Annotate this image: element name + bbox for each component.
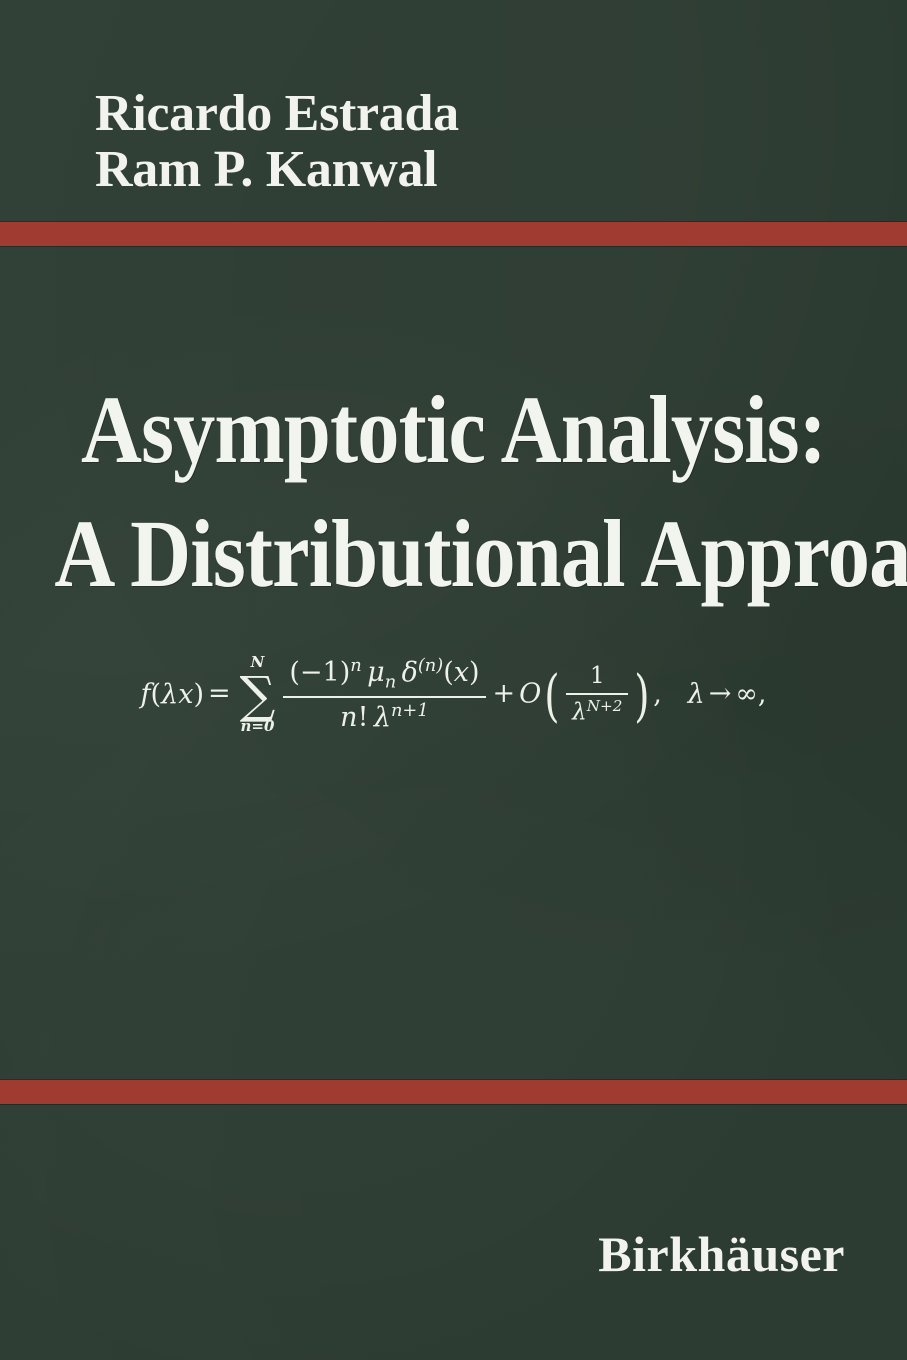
sigma-icon: ∑ [240,671,276,719]
publisher-logo: Birkhäuser [598,1228,845,1280]
limit-infinity: ∞ [735,678,758,709]
order-denominator: λN+2 [566,697,628,727]
book-title-line-2: A Distributional Approach [54,498,852,610]
author-block: Ricardo Estrada Ram P. Kanwal [95,86,795,198]
den-factorial: ! [358,702,369,733]
fraction-denominator: n! λn+1 [283,700,485,735]
num-sign-close: ) [340,657,351,688]
num-exponent: n [350,655,361,676]
limit-arrow-icon: → [705,678,736,709]
num-mu-subscript: n [385,671,396,692]
formula-equals: = [204,678,235,709]
top-red-rule [0,222,907,246]
cover-formula: f(λx) =N∑n=0(−1)n μn δ(n)(x)n! λn+1+O(1λ… [0,655,907,735]
fraction-numerator: (−1)n μn δ(n)(x) [283,655,485,694]
num-sign-open: ( [289,657,300,688]
bottom-red-rule [0,1080,907,1104]
book-cover: Ricardo Estrada Ram P. Kanwal Asymptotic… [0,0,907,1360]
limit-trailing-comma: , [758,678,767,709]
main-fraction: (−1)n μn δ(n)(x)n! λn+1 [283,655,485,734]
sum-lower-limit: n=0 [240,719,276,735]
formula-comma: , [653,678,662,709]
formula-f: f [141,679,151,710]
big-o: O [519,678,541,709]
formula-lhs-open: ( [151,679,162,710]
limit-lambda: λ [688,678,705,709]
formula-lhs-close: ) [193,679,204,710]
num-delta-superscript: (n) [418,655,443,676]
den-lambda: λ [374,702,391,733]
num-one: 1 [323,657,340,688]
formula-lambda: λ [161,679,178,710]
order-fraction-bar [566,693,628,695]
num-delta: δ [402,657,418,688]
book-title-line-1: Asymptotic Analysis: [54,374,852,486]
title-block: Asymptotic Analysis: A Distributional Ap… [0,374,907,610]
formula-x: x [178,679,193,710]
order-fraction: 1λN+2 [566,662,628,727]
author-name-1: Ricardo Estrada [95,86,795,142]
formula-lhs: f(λx) [141,681,204,708]
num-x: x [454,657,469,688]
den-exponent: n+1 [391,700,429,721]
summation: N∑n=0 [240,655,276,735]
num-minus: − [300,657,323,688]
author-name-2: Ram P. Kanwal [95,142,795,198]
formula-plus: + [489,678,520,709]
order-numerator: 1 [566,662,628,691]
num-mu: μ [367,657,385,688]
order-exponent: N+2 [587,697,623,715]
num-x-close: ) [469,657,480,688]
fraction-bar [283,696,485,698]
order-lambda: λ [572,700,587,726]
den-n: n [340,702,357,733]
num-x-open: ( [443,657,454,688]
